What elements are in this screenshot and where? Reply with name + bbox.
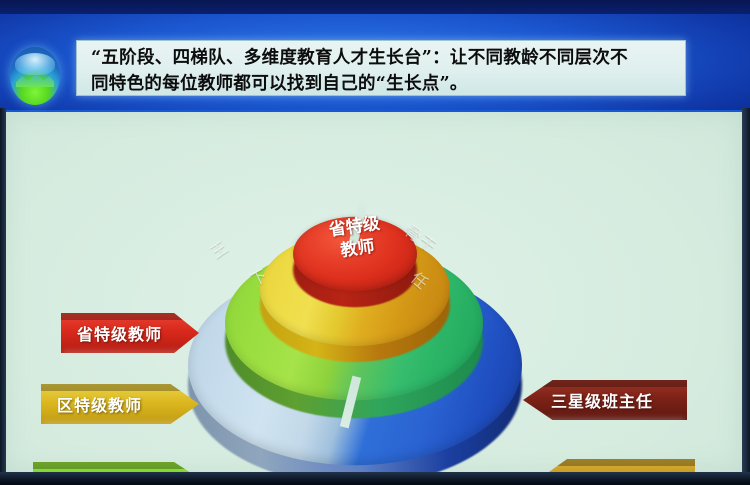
arc-caption-left-outer: 王 — [205, 233, 233, 263]
label-bevel — [41, 384, 199, 391]
slide-header-band: “五阶段、四梯队、多维度教育人才生长台”：让不同教龄不同层次不 同特色的每位教师… — [0, 14, 750, 110]
label-bevel — [33, 462, 205, 469]
label-left-3[interactable]: 区学科带头人 — [33, 462, 205, 472]
screen-right-edge — [742, 108, 750, 480]
label-bevel — [523, 380, 687, 387]
globe-icon — [10, 47, 60, 105]
label-left-1-text: 省特级教师 — [77, 321, 162, 345]
concentric-ring-diagram: 王 下 骨干 任 省特级 教师 — [180, 164, 530, 459]
projected-slide-frame: “五阶段、四梯队、多维度教育人才生长台”：让不同教龄不同层次不 同特色的每位教师… — [0, 0, 750, 485]
label-left-2[interactable]: 区特级教师 — [41, 384, 199, 424]
slide-body: 王 下 骨干 任 省特级 教师 省特级教师 区特级教师 区学科带头人 — [5, 112, 743, 472]
label-left-2-text: 区特级教师 — [57, 392, 142, 416]
projector-screenshot: “五阶段、四梯队、多维度教育人才生长台”：让不同教龄不同层次不 同特色的每位教师… — [0, 0, 750, 485]
label-right-1-text: 三星级班主任 — [551, 388, 653, 412]
label-left-1[interactable]: 省特级教师 — [61, 313, 199, 353]
screen-bottom-edge — [0, 472, 750, 485]
label-bevel — [61, 313, 199, 320]
label-right-1[interactable]: 三星级班主任 — [523, 380, 687, 420]
screen-left-edge — [0, 108, 6, 480]
label-right-2[interactable]: 二星级班主任 — [539, 459, 695, 472]
label-bevel — [539, 459, 695, 466]
header-title-text: “五阶段、四梯队、多维度教育人才生长台”：让不同教龄不同层次不 同特色的每位教师… — [91, 45, 675, 97]
header-text-box: “五阶段、四梯队、多维度教育人才生长台”：让不同教龄不同层次不 同特色的每位教师… — [76, 40, 686, 96]
